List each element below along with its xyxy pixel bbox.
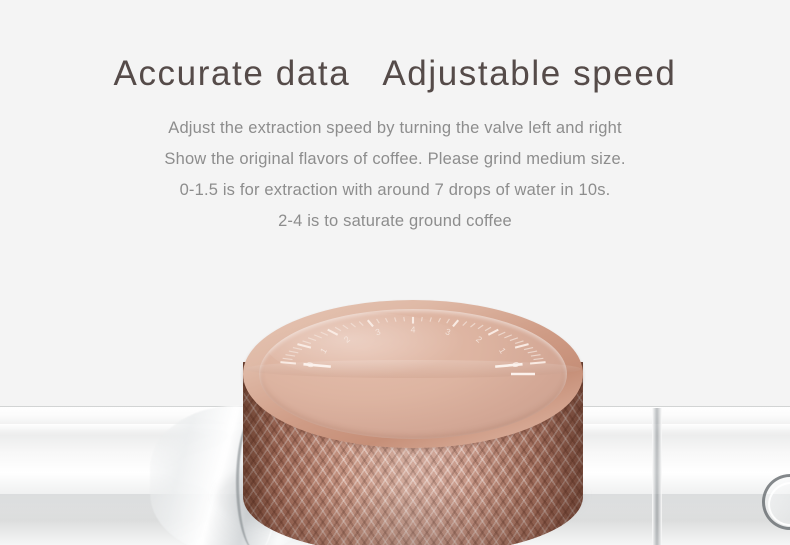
- dial-tick-minor: [404, 317, 405, 321]
- dial-tick-minor: [321, 332, 328, 335]
- product-marketing-image: 012343210 Accurate data Adjustable speed…: [0, 0, 790, 545]
- dial-tick-minor: [463, 322, 467, 326]
- dial-tick-minor: [447, 319, 450, 323]
- dial-tick-minor: [504, 335, 511, 338]
- dial-tick-major: [368, 320, 373, 326]
- dial-tick-minor: [438, 318, 440, 322]
- dial-tick-minor: [422, 317, 423, 321]
- dial-tick-minor: [524, 348, 533, 350]
- description-line: 2-4 is to saturate ground coffee: [0, 206, 790, 237]
- dial-tick-minor: [343, 325, 348, 329]
- knob-dial-scale: 012343210: [259, 309, 567, 439]
- dial-number: 2: [342, 334, 352, 345]
- dial-number: 4: [411, 324, 416, 334]
- dial-tick-minor: [510, 338, 518, 341]
- dial-tick-minor: [283, 358, 293, 359]
- description-line: Show the original flavors of coffee. Ple…: [0, 144, 790, 175]
- dial-tick-minor: [534, 358, 544, 359]
- dial-number: 1: [497, 346, 508, 355]
- dial-tick-minor: [308, 338, 316, 341]
- dial-tick-minor: [314, 335, 321, 338]
- dial-tick-major: [328, 330, 338, 335]
- dial-number: 2: [474, 334, 484, 345]
- dial-tick-major: [488, 330, 498, 335]
- dial-tick-minor: [531, 355, 541, 356]
- dial-tick-minor: [285, 355, 295, 356]
- dial-tick-minor: [359, 322, 363, 326]
- dial-tick-major: [280, 362, 295, 363]
- dial-tick-minor: [377, 319, 380, 323]
- description-line: Adjust the extraction speed by turning t…: [0, 113, 790, 144]
- dial-number: 3: [374, 326, 382, 337]
- description-line: 0-1.5 is for extraction with around 7 dr…: [0, 175, 790, 206]
- dial-number: 0: [305, 361, 317, 368]
- carafe-seam: [652, 408, 662, 545]
- dial-tick-minor: [515, 341, 523, 343]
- dial-tick-minor: [528, 351, 537, 353]
- dial-tick-minor: [430, 317, 431, 321]
- knob-body-bottom-shading: [243, 484, 583, 545]
- page-title: Accurate data Adjustable speed: [0, 52, 790, 96]
- dial-tick-major: [515, 344, 528, 347]
- dial-tick-minor: [303, 341, 311, 343]
- marketing-copy: Accurate data Adjustable speed Adjust th…: [0, 0, 790, 237]
- dial-tick-minor: [485, 327, 491, 331]
- dial-tick-major: [530, 362, 545, 363]
- dial-tick-major: [453, 320, 458, 326]
- dial-tick-minor: [386, 318, 388, 322]
- adjustable-speed-valve-knob[interactable]: 012343210: [243, 300, 583, 545]
- description-block: Adjust the extraction speed by turning t…: [0, 113, 790, 237]
- dial-number: 1: [318, 346, 329, 355]
- dial-tick-minor: [498, 332, 505, 335]
- dial-number: 3: [444, 326, 452, 337]
- dial-tick-minor: [478, 325, 483, 329]
- dial-tick-minor: [470, 323, 475, 327]
- dial-tick-minor: [335, 327, 341, 331]
- dial-tick-minor: [351, 323, 356, 327]
- dial-tick-minor: [395, 317, 396, 321]
- dial-number: 0: [509, 361, 521, 368]
- dial-tick-minor: [289, 351, 298, 353]
- dial-tick-major: [297, 344, 310, 347]
- dial-tick-minor: [293, 348, 302, 350]
